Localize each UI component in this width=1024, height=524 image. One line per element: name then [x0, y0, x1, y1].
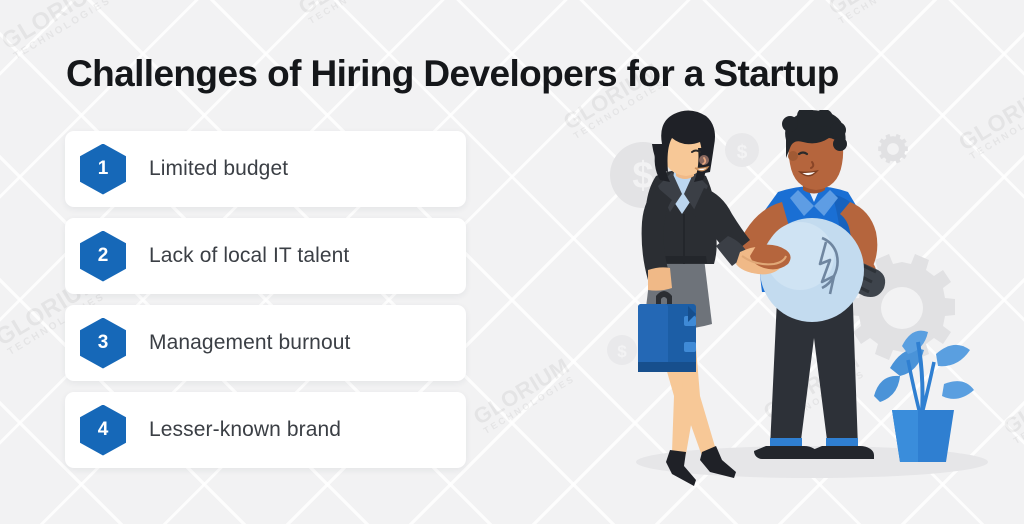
watermark-logo: GLORIUMTECHNOLOGIES: [295, 0, 403, 27]
challenge-card[interactable]: 2 Lack of local IT talent: [65, 218, 466, 294]
svg-text:$: $: [737, 142, 748, 163]
challenge-number: 2: [98, 246, 109, 265]
watermark-logo: GLORIUMTECHNOLOGIES: [470, 355, 578, 438]
challenge-number: 3: [98, 333, 109, 352]
hexagon-badge-icon: 1: [80, 144, 126, 195]
challenge-number: 4: [98, 420, 109, 439]
challenge-number: 1: [98, 159, 109, 178]
challenge-card[interactable]: 1 Limited budget: [65, 131, 466, 207]
svg-text:$: $: [617, 342, 627, 361]
challenge-list: 1 Limited budget 2 Lack of local IT tale…: [65, 131, 466, 468]
challenge-label: Lesser-known brand: [149, 418, 341, 442]
challenge-label: Limited budget: [149, 157, 288, 181]
hexagon-badge-icon: 2: [80, 231, 126, 282]
challenge-label: Management burnout: [149, 331, 350, 355]
hexagon-badge-icon: 3: [80, 318, 126, 369]
watermark-logo: GLORIUMTECHNOLOGIES: [825, 0, 933, 27]
hexagon-badge-icon: 4: [80, 405, 126, 456]
handshake-hiring-illustration: $ $ $: [600, 110, 1024, 500]
challenge-label: Lack of local IT talent: [149, 244, 349, 268]
challenge-card[interactable]: 4 Lesser-known brand: [65, 392, 466, 468]
infographic-page: GLORIUMTECHNOLOGIES GLORIUMTECHNOLOGIES …: [0, 0, 1024, 524]
page-title: Challenges of Hiring Developers for a St…: [66, 53, 839, 95]
challenge-card[interactable]: 3 Management burnout: [65, 305, 466, 381]
